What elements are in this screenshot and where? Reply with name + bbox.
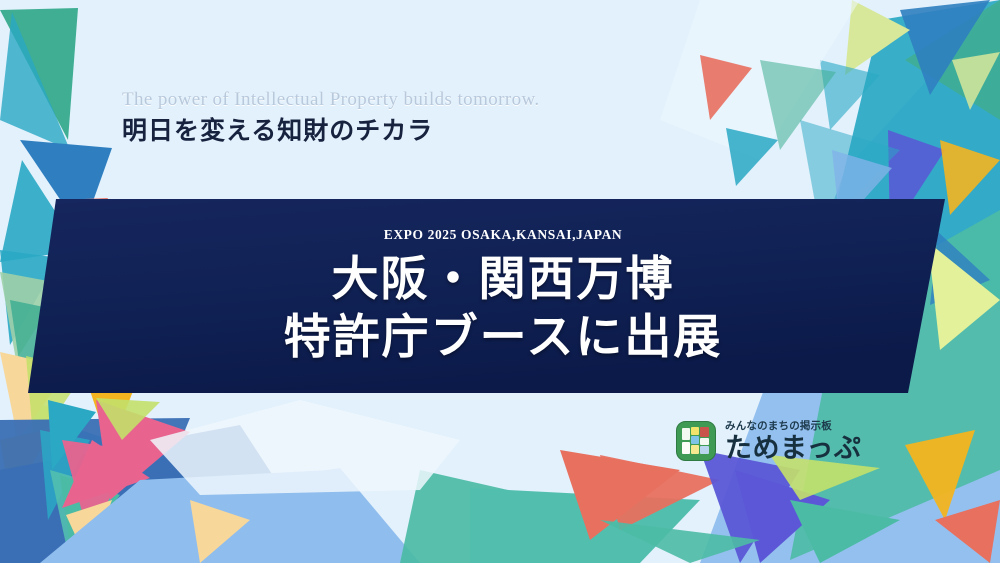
bulletin-board-icon [676, 421, 716, 461]
expo-eyebrow: EXPO 2025 OSAKA,KANSAI,JAPAN [384, 227, 623, 243]
tamemap-logo[interactable]: みんなのまちの掲示板 ためまっぷ [676, 421, 861, 462]
logo-name: ためまっぷ [725, 435, 861, 462]
banner-canvas: The power of Intellectual Property build… [0, 0, 1000, 563]
headline-line-1: 大阪・関西万博 [332, 251, 675, 308]
logo-subtitle: みんなのまちの掲示板 [725, 421, 861, 432]
tagline-japanese: 明日を変える知財のチカラ [122, 117, 540, 146]
tagline-english: The power of Intellectual Property build… [122, 90, 540, 111]
headline-line-2: 特許庁ブースに出展 [284, 309, 723, 366]
banner-text-block: EXPO 2025 OSAKA,KANSAI,JAPAN 大阪・関西万博 特許庁… [0, 199, 1000, 394]
tagline-block: The power of Intellectual Property build… [122, 90, 540, 146]
